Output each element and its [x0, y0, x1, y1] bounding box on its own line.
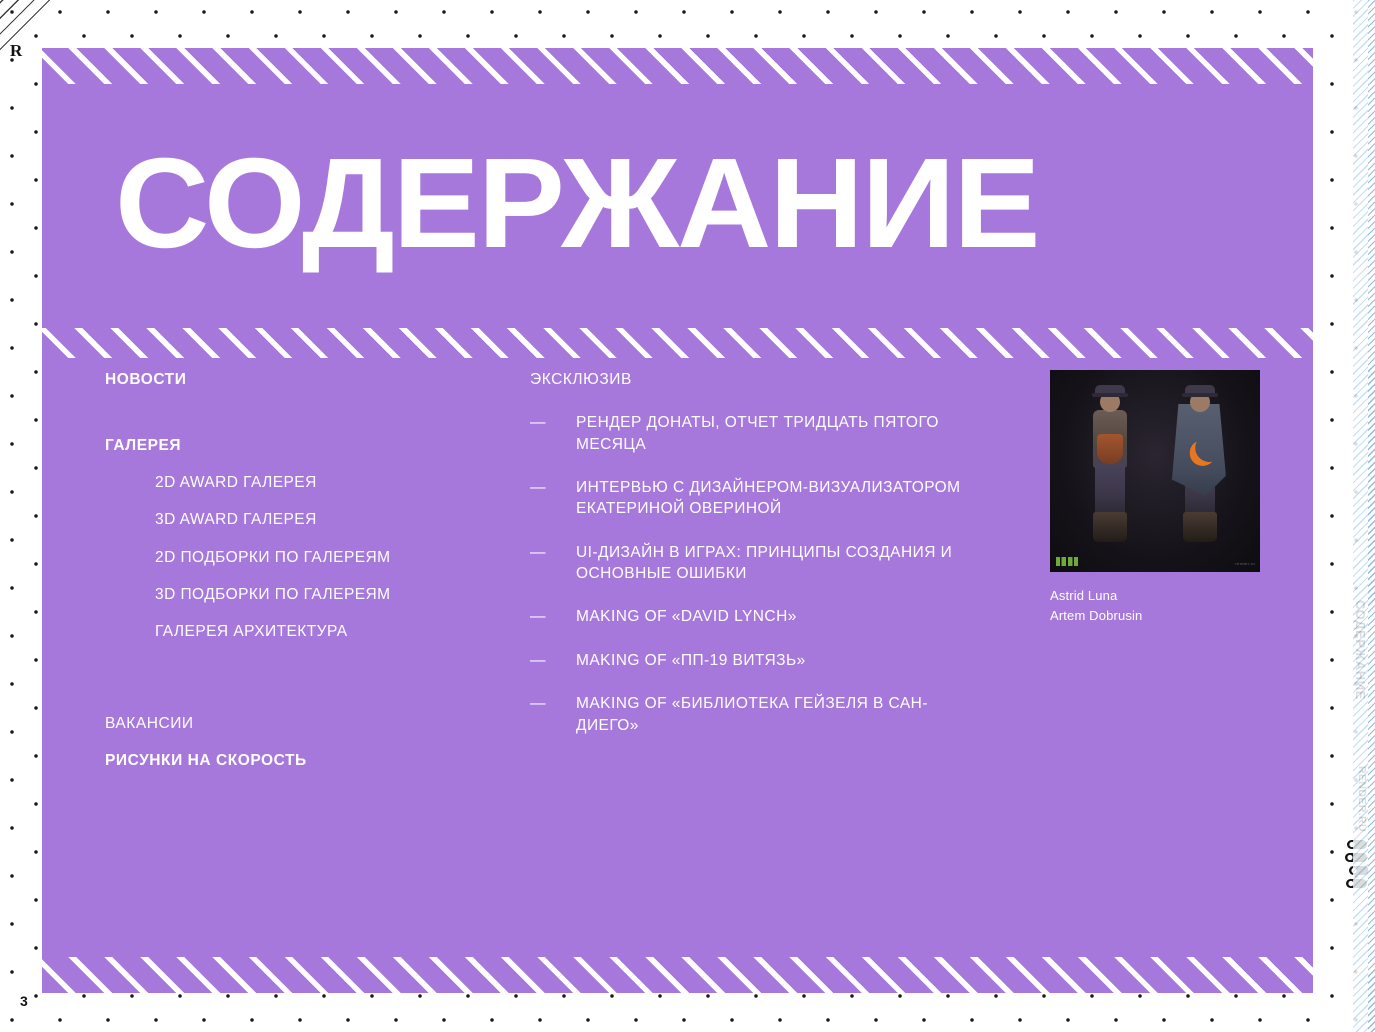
toc-column-right: render.ru Astrid Luna Artem Dobrusin: [1050, 370, 1280, 626]
toc-column-middle: ЭКСКЛЮЗИВ — РЕНДЕР ДОНАТЫ, ОТЧЕТ ТРИДЦАТ…: [530, 370, 980, 736]
dash-icon: —: [530, 606, 576, 627]
brand-mark-icon: Я: [10, 42, 22, 59]
character-sash: [1097, 434, 1123, 464]
toc-heading-speed-drawing[interactable]: РИСУНКИ НА СКОРОСТЬ: [105, 751, 505, 771]
toc-item-2d-gallery-selections[interactable]: 2D ПОДБОРКИ ПО ГАЛЕРЕЯМ: [155, 548, 505, 568]
toc-item-label: ИНТЕРВЬЮ С ДИЗАЙНЕРОМ-ВИЗУАЛИЗАТОРОМ ЕКА…: [576, 477, 976, 520]
artwork-watermark-text: render.ru: [1235, 562, 1255, 566]
toc-item-label: MAKING OF «ПП-19 ВИТЯЗЬ»: [576, 650, 806, 671]
character-boots: [1183, 512, 1217, 542]
spacer: [105, 642, 505, 688]
spacer: [105, 568, 505, 585]
toc-item-2d-award-gallery[interactable]: 2D AWARD ГАЛЕРЕЯ: [155, 473, 505, 493]
toc-column-left: НОВОСТИ ГАЛЕРЕЯ 2D AWARD ГАЛЕРЕЯ 3D AWAR…: [105, 370, 505, 771]
toc-item-label: РЕНДЕР ДОНАТЫ, ОТЧЕТ ТРИДЦАТЬ ПЯТОГО МЕС…: [576, 412, 976, 455]
spacer: [105, 456, 505, 473]
artwork-site-watermark-icon: [1056, 557, 1078, 566]
stripe-band-middle: [42, 328, 1313, 358]
character-front-view: [1078, 392, 1142, 558]
artwork-author: Artem Dobrusin: [1050, 606, 1280, 626]
toc-heading-news[interactable]: НОВОСТИ: [105, 370, 505, 390]
artwork-caption: Astrid Luna Artem Dobrusin: [1050, 586, 1280, 626]
content-panel: СОДЕРЖАНИЕ НОВОСТИ ГАЛЕРЕЯ 2D AWARD ГАЛЕ…: [42, 48, 1313, 993]
spacer: [105, 493, 505, 510]
dash-icon: —: [530, 477, 576, 498]
toc-item-making-of-david-lynch[interactable]: — MAKING OF «DAVID LYNCH»: [530, 606, 980, 627]
toc-item-architecture-gallery[interactable]: ГАЛЕРЕЯ АРХИТЕКТУРА: [155, 622, 505, 642]
character-back-view: [1168, 392, 1232, 558]
crescent-moon-emblem: [1190, 440, 1216, 466]
dash-icon: —: [530, 650, 576, 671]
dash-icon: —: [530, 693, 576, 714]
spacer: [105, 734, 505, 751]
toc-heading-vacancies[interactable]: ВАКАНСИИ: [105, 714, 505, 734]
page-number: 3: [20, 994, 28, 1008]
dash-icon: —: [530, 412, 576, 433]
stripe-band-top: [42, 48, 1313, 84]
toc-item-3d-gallery-selections[interactable]: 3D ПОДБОРКИ ПО ГАЛЕРЕЯМ: [155, 585, 505, 605]
toc-item-render-donations[interactable]: — РЕНДЕР ДОНАТЫ, ОТЧЕТ ТРИДЦАТЬ ПЯТОГО М…: [530, 412, 980, 455]
toc-item-making-of-geisel-library[interactable]: — MAKING OF «БИБЛИОТЕКА ГЕЙЗЕЛЯ В САН-ДИ…: [530, 693, 980, 736]
toc-item-ui-design-games[interactable]: — UI-ДИЗАЙН В ИГРАХ: ПРИНЦИПЫ СОЗДАНИЯ И…: [530, 542, 980, 585]
page-title: СОДЕРЖАНИЕ: [115, 140, 1038, 268]
character-boots: [1093, 512, 1127, 542]
spacer: [105, 605, 505, 622]
page-edge-hatch-inner: [1368, 0, 1375, 1032]
artwork-thumbnail[interactable]: render.ru: [1050, 370, 1260, 572]
toc-heading-exclusive[interactable]: ЭКСКЛЮЗИВ: [530, 370, 980, 390]
stripe-band-bottom: [42, 957, 1313, 993]
spacer: [105, 390, 505, 436]
toc-heading-gallery[interactable]: ГАЛЕРЕЯ: [105, 436, 505, 456]
character-cap: [1095, 385, 1125, 396]
toc-item-interview-overina[interactable]: — ИНТЕРВЬЮ С ДИЗАЙНЕРОМ-ВИЗУАЛИЗАТОРОМ Е…: [530, 477, 980, 520]
toc-item-label: MAKING OF «БИБЛИОТЕКА ГЕЙЗЕЛЯ В САН-ДИЕГ…: [576, 693, 976, 736]
character-cap: [1185, 385, 1215, 396]
spacer: [105, 688, 505, 714]
toc-item-label: MAKING OF «DAVID LYNCH»: [576, 606, 797, 627]
artwork-title: Astrid Luna: [1050, 586, 1280, 606]
character-legs: [1095, 464, 1125, 518]
spacer: [105, 531, 505, 548]
dash-icon: —: [530, 542, 576, 563]
toc-item-3d-award-gallery[interactable]: 3D AWARD ГАЛЕРЕЯ: [155, 510, 505, 530]
toc-item-label: UI-ДИЗАЙН В ИГРАХ: ПРИНЦИПЫ СОЗДАНИЯ И О…: [576, 542, 976, 585]
toc-item-making-of-pp19[interactable]: — MAKING OF «ПП-19 ВИТЯЗЬ»: [530, 650, 980, 671]
